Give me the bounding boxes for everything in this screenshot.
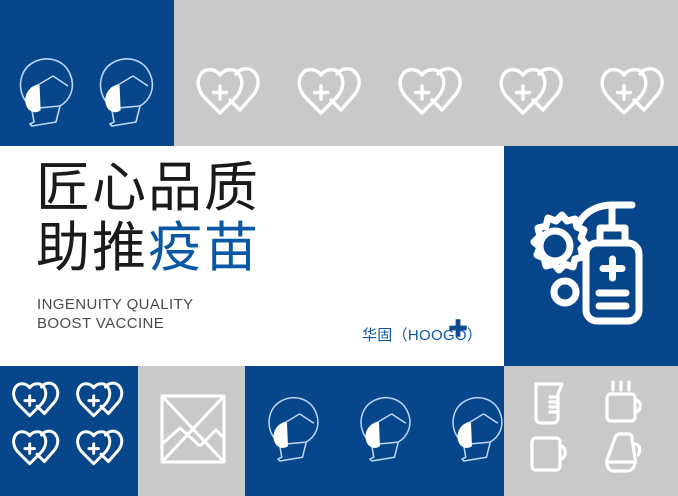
masked-face-icon	[353, 390, 419, 466]
headline-line-1: 匠心品质	[36, 158, 260, 218]
double-heart-plus-icon	[196, 66, 272, 120]
masked-face-icon	[445, 390, 511, 466]
headline-line-2-dark: 助推	[36, 216, 148, 279]
subtitle-line-1: INGENUITY QUALITY	[37, 295, 194, 314]
headline-line-2: 助推疫苗	[36, 218, 260, 278]
poster-canvas: 匠心品质 助推疫苗 INGENUITY QUALITY BOOST VACCIN…	[0, 0, 678, 496]
top-mask-icon-group	[12, 52, 162, 130]
subtitle-block: INGENUITY QUALITY BOOST VACCINE	[37, 295, 194, 333]
double-heart-plus-icon	[12, 380, 68, 422]
masked-face-icon	[92, 52, 162, 130]
headline-block: 匠心品质 助推疫苗	[36, 158, 260, 278]
sanitizer-panel	[504, 146, 678, 366]
double-heart-plus-icon	[12, 428, 68, 470]
masked-face-icon	[12, 52, 82, 130]
double-heart-plus-icon	[76, 428, 132, 470]
double-heart-plus-icon	[76, 380, 132, 422]
double-heart-plus-icon	[398, 66, 474, 120]
bottom-mask-icon-group	[261, 390, 511, 466]
kettle-icon	[602, 432, 646, 476]
double-heart-plus-icon	[600, 66, 676, 120]
beaker-icon	[528, 380, 572, 426]
headline-line-2-accent: 疫苗	[148, 216, 260, 279]
broken-image-placeholder-icon	[160, 394, 226, 464]
bottom-mask-panel	[245, 366, 504, 496]
vessel-icon-group	[528, 380, 646, 476]
medical-plus-icon	[448, 318, 468, 338]
masked-face-icon	[261, 390, 327, 466]
image-placeholder-panel	[138, 366, 245, 496]
hand-sanitizer-bottle-icon	[524, 188, 664, 328]
double-heart-plus-icon	[499, 66, 575, 120]
top-heart-icon-group	[196, 66, 676, 120]
mug-icon	[528, 432, 572, 476]
double-heart-plus-icon	[297, 66, 373, 120]
headline-card: 匠心品质 助推疫苗 INGENUITY QUALITY BOOST VACCIN…	[0, 146, 504, 366]
bottom-heart-icon-group	[12, 380, 132, 470]
bottom-vessel-panel	[504, 366, 678, 496]
subtitle-line-2: BOOST VACCINE	[37, 314, 194, 333]
steaming-mug-icon	[602, 380, 646, 426]
top-left-blue-panel	[0, 0, 174, 146]
bottom-heart-panel	[0, 366, 138, 496]
